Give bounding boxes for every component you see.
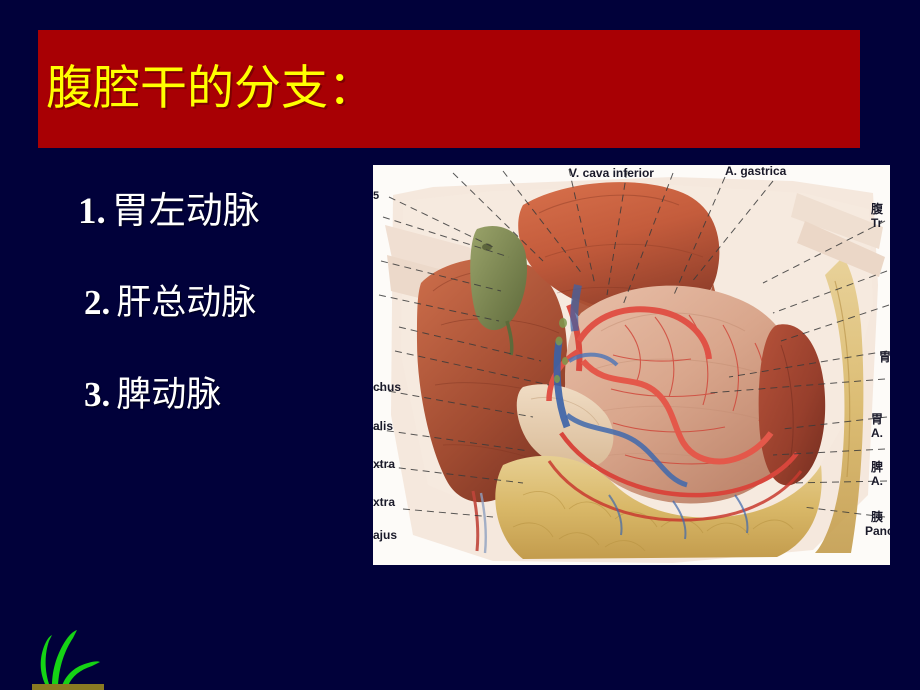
svg-text:Panc: Panc xyxy=(865,524,890,538)
svg-text:Tr: Tr xyxy=(871,216,883,230)
list-item-number: 1. xyxy=(78,191,112,232)
title-banner: 腹腔干的分支： xyxy=(38,30,860,148)
svg-text:A. gastrica: A. gastrica xyxy=(725,165,787,178)
list-item-label: 肝总动脉 xyxy=(116,283,256,323)
figure-label-top: V. cava inferior xyxy=(569,166,654,180)
list-item-label: 脾动脉 xyxy=(116,375,221,415)
svg-text:脾: 脾 xyxy=(871,459,883,474)
plant-decoration xyxy=(18,616,128,690)
svg-text:xtra: xtra xyxy=(373,495,395,509)
list-item-number: 3. xyxy=(84,375,116,414)
anatomy-illustration-svg: V. cava inferior A. gastrica 5 chus alis… xyxy=(373,165,890,565)
slide-root: 腹腔干的分支： 1.胃左动脉 2.肝总动脉 3.脾动脉 xyxy=(0,0,920,690)
svg-text:alis: alis xyxy=(373,419,393,433)
plant-sprout-icon xyxy=(18,616,128,690)
svg-text:胰: 胰 xyxy=(871,509,883,524)
list-item: 3.脾动脉 xyxy=(84,371,368,419)
svg-text:5: 5 xyxy=(373,190,379,202)
list-item: 1.胃左动脉 xyxy=(78,186,368,237)
svg-text:chus: chus xyxy=(373,380,401,394)
list-item-number: 2. xyxy=(84,283,116,322)
svg-text:腹: 腹 xyxy=(871,201,884,216)
svg-text:A.: A. xyxy=(871,474,883,488)
list-item: 2.肝总动脉 xyxy=(84,279,368,327)
svg-text:A.: A. xyxy=(871,426,883,440)
svg-text:胃: 胃 xyxy=(871,412,883,426)
svg-text:胃: 胃 xyxy=(879,350,890,364)
anatomy-figure: V. cava inferior A. gastrica 5 chus alis… xyxy=(373,165,890,565)
svg-text:xtra: xtra xyxy=(373,457,395,471)
list-item-label: 胃左动脉 xyxy=(112,189,260,232)
svg-text:ajus: ajus xyxy=(373,528,397,542)
bullet-list: 1.胃左动脉 2.肝总动脉 3.脾动脉 xyxy=(78,186,368,419)
page-title: 腹腔干的分支： xyxy=(46,64,375,113)
